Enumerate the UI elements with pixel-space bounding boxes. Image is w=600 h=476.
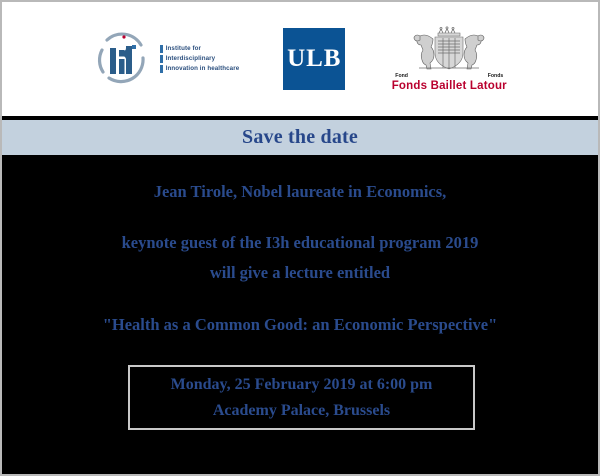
logo-strip: Institute for Interdisciplinary Innovati… <box>2 2 598 116</box>
event-venue: Academy Palace, Brussels <box>213 402 390 420</box>
event-datetime: Monday, 25 February 2019 at 6:00 pm <box>171 376 433 394</box>
banner-title: Save the date <box>242 126 358 149</box>
fbl-superscript-right: Fonds <box>488 72 504 80</box>
i3h-bar-icon <box>160 65 163 73</box>
i3h-tagline-row: Institute for <box>160 45 240 53</box>
i3h-bar-icon <box>160 45 163 53</box>
logo-ulb-wordmark: ULB <box>287 45 341 73</box>
fbl-superscript-left: Fond <box>395 72 408 80</box>
save-the-date-banner: Save the date <box>2 120 598 155</box>
i3h-bar-icon <box>160 55 163 63</box>
i3h-tagline-row: Interdisciplinary <box>160 55 240 63</box>
fbl-wordmark: Fonds Baillet Latour <box>392 80 507 93</box>
event-details-box: Monday, 25 February 2019 at 6:00 pm Acad… <box>128 365 475 430</box>
i3h-tagline-line-2: Interdisciplinary <box>166 55 216 63</box>
fbl-superscripts: Fond Fonds <box>393 72 505 80</box>
poster-body: Jean Tirole, Nobel laureate in Economics… <box>2 155 598 474</box>
i3h-tagline-line-1: Institute for <box>166 45 201 53</box>
i3h-tagline: Institute for Interdisciplinary Innovati… <box>160 45 240 73</box>
logo-ulb: ULB <box>283 28 345 90</box>
logo-fonds-baillet-latour: Fond Fonds Fonds Baillet Latour <box>389 25 509 93</box>
i3h-tagline-line-3: Innovation in healthcare <box>166 65 240 73</box>
lecture-title: "Health as a Common Good: an Economic Pe… <box>2 315 598 336</box>
i3h-tagline-row: Innovation in healthcare <box>160 65 240 73</box>
logo-i3h: Institute for Interdisciplinary Innovati… <box>91 28 240 90</box>
i3h-circle-icon <box>91 28 153 90</box>
program-line-2: will give a lecture entitled <box>2 263 598 284</box>
coat-of-arms-icon <box>397 25 501 72</box>
invitation-poster: Institute for Interdisciplinary Innovati… <box>0 0 600 476</box>
speaker-line: Jean Tirole, Nobel laureate in Economics… <box>2 182 598 203</box>
program-line-1: keynote guest of the I3h educational pro… <box>2 233 598 254</box>
